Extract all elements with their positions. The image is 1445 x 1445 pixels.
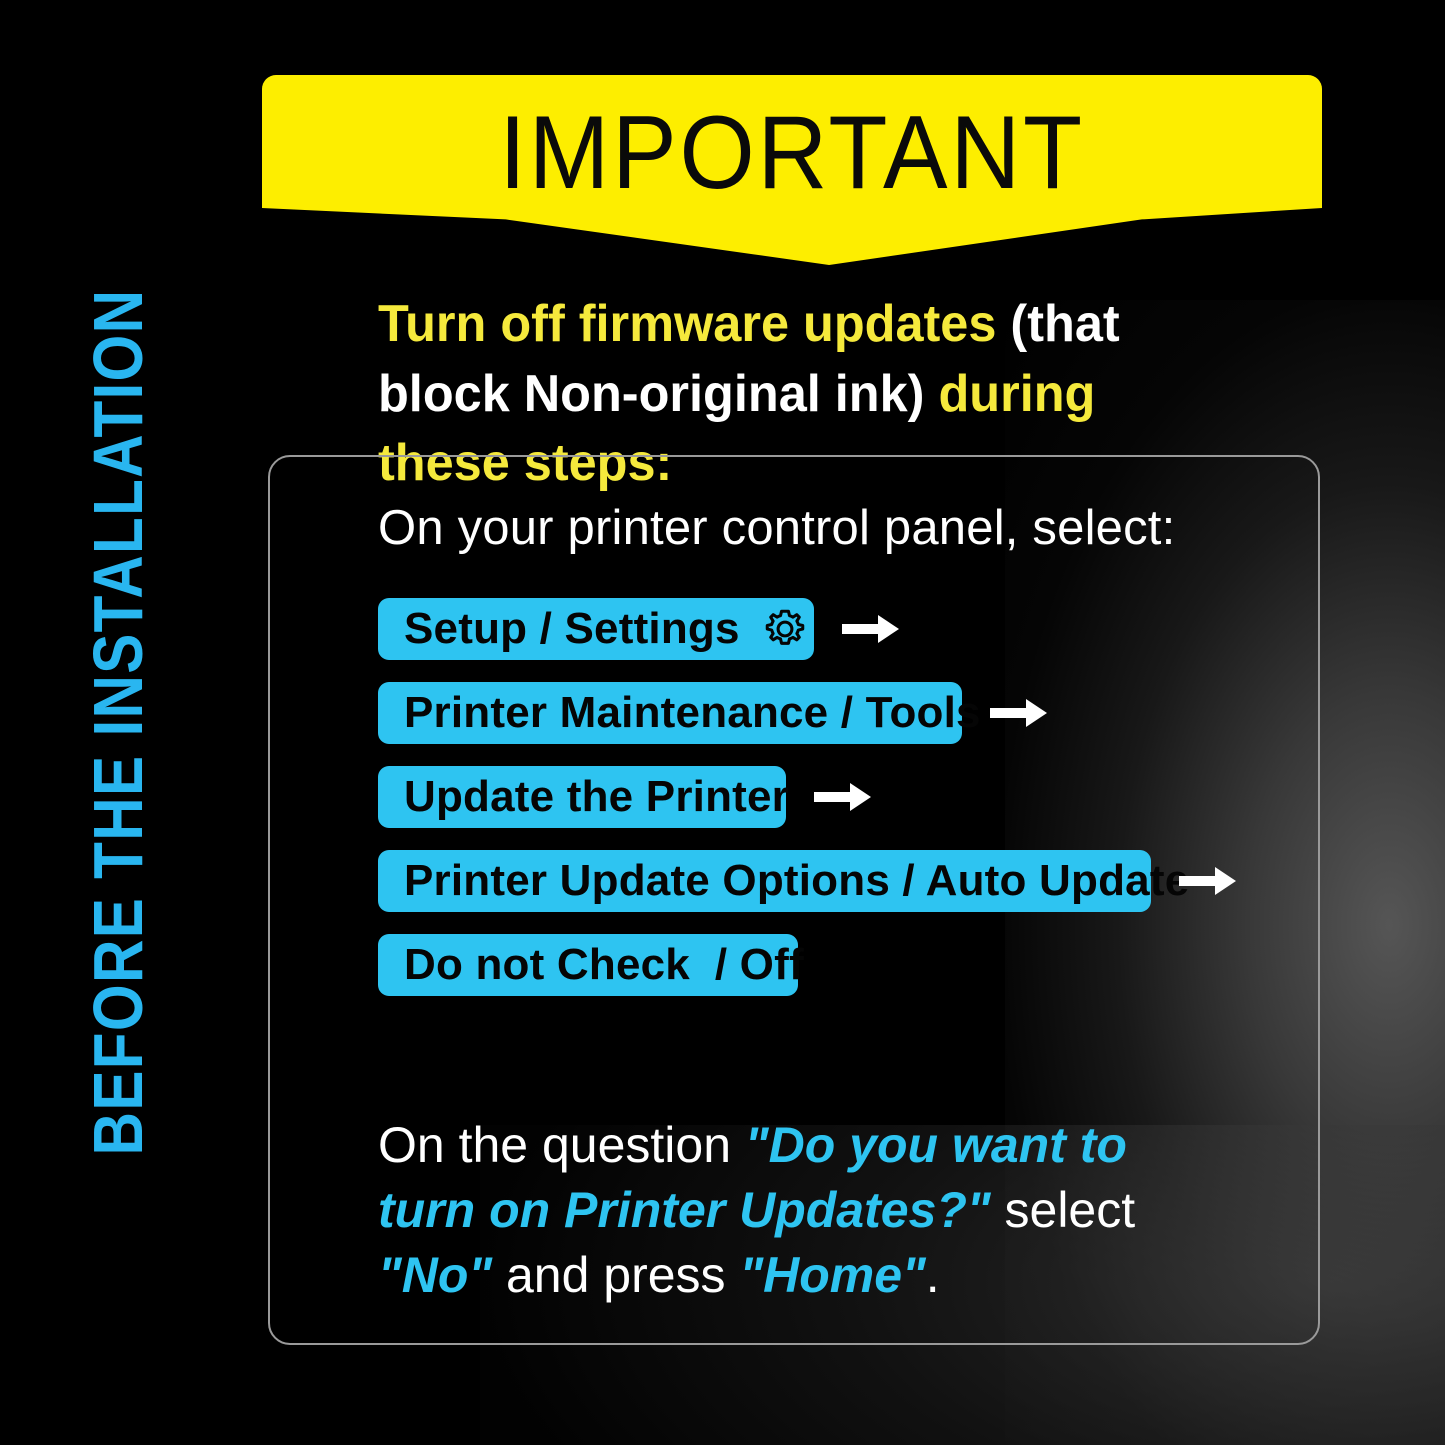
closing-home-button: "Home" [739, 1247, 925, 1303]
poster-canvas: BEFORE THE INSTALLATION IMPORTANT Turn o… [0, 0, 1445, 1445]
vertical-side-title: BEFORE THE INSTALLATION [0, 0, 236, 1445]
subtitle-part-1: Turn off firmware updates [378, 295, 1010, 353]
step-row: Setup / Settings [378, 598, 1278, 660]
step-label: Setup / Settings [404, 607, 740, 651]
panel-heading: On your printer control panel, select: [378, 500, 1175, 556]
arrow-right-icon [990, 696, 1048, 730]
step-row: Printer Maintenance / Tools [378, 682, 1278, 744]
vertical-side-title-text: BEFORE THE INSTALLATION [83, 289, 153, 1156]
step-label: Printer Update Options / Auto Update [404, 859, 1189, 903]
step-label: Do not Check / Off [404, 943, 804, 987]
closing-paragraph: On the question "Do you want to turn on … [378, 1113, 1223, 1308]
step-label: Printer Maintenance / Tools [404, 691, 981, 735]
step-pill-printer-update-options-auto-update[interactable]: Printer Update Options / Auto Update [378, 850, 1151, 912]
important-banner: IMPORTANT [262, 75, 1322, 265]
closing-part-3: select [991, 1182, 1136, 1238]
step-label: Update the Printer [404, 775, 789, 819]
arrow-right-icon [814, 780, 872, 814]
arrow-right-icon [842, 612, 900, 646]
gear-icon [762, 606, 808, 652]
step-row: Printer Update Options / Auto Update [378, 850, 1278, 912]
step-row: Update the Printer [378, 766, 1278, 828]
arrow-right-icon [1179, 864, 1237, 898]
closing-answer-no: "No" [378, 1247, 492, 1303]
closing-part-7: . [926, 1247, 940, 1303]
step-row: Do not Check / Off [378, 934, 1278, 996]
closing-part-5: and press [492, 1247, 739, 1303]
step-pill-setup-settings[interactable]: Setup / Settings [378, 598, 814, 660]
banner-title: IMPORTANT [299, 99, 1285, 208]
steps-list: Setup / Settings Printer Mai [378, 598, 1278, 1018]
step-pill-do-not-check-off[interactable]: Do not Check / Off [378, 934, 798, 996]
step-pill-update-the-printer[interactable]: Update the Printer [378, 766, 786, 828]
closing-part-1: On the question [378, 1117, 745, 1173]
step-pill-printer-maintenance-tools[interactable]: Printer Maintenance / Tools [378, 682, 962, 744]
